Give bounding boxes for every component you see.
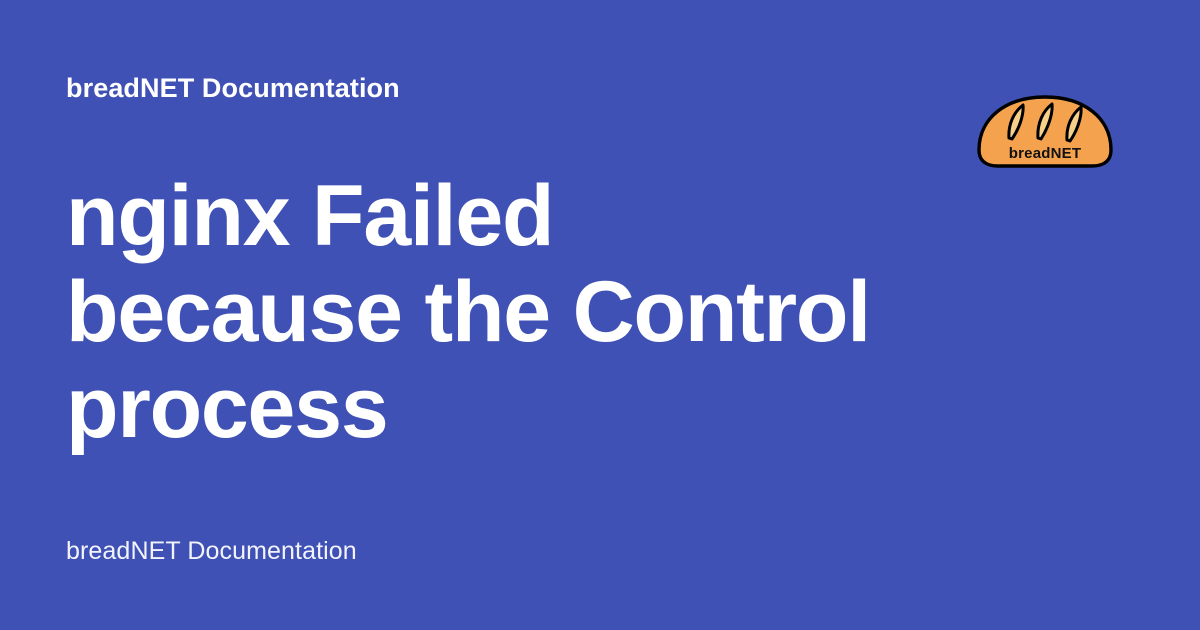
logo-wordmark: breadNET [1009,145,1081,162]
site-title: breadNET Documentation [66,72,400,104]
social-share-card: breadNET Documentation breadNET nginx Fa… [0,0,1200,630]
card-footer: breadNET Documentation [0,500,1200,630]
card-header: breadNET Documentation breadNET [0,0,1200,190]
bread-loaf-logo[interactable]: breadNET [972,88,1118,174]
footer-site-name: breadNET Documentation [66,536,357,566]
page-title: nginx Failed because the Control process [66,168,906,456]
bread-loaf-icon: breadNET [972,88,1118,174]
